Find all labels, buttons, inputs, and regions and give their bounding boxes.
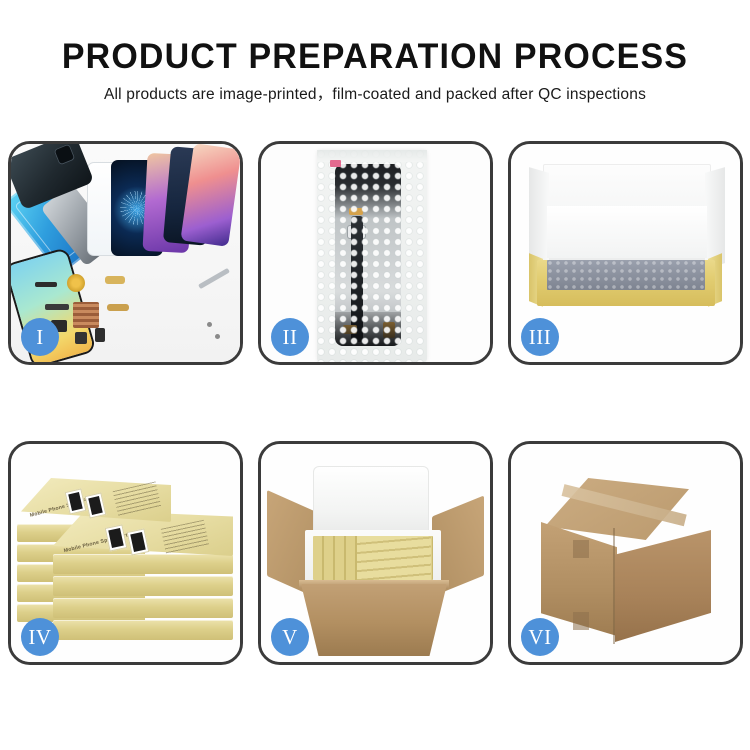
box-side-r2 <box>53 554 233 574</box>
box-side-r5 <box>53 620 233 640</box>
box-side-r4 <box>53 598 233 618</box>
box-side-r3 <box>53 576 233 596</box>
carton-tab-upper <box>573 540 589 558</box>
step-badge-3: III <box>521 318 559 356</box>
process-step-panel-1[interactable]: I <box>8 141 243 365</box>
page-subtitle: All products are image-printed，film-coat… <box>0 78 750 105</box>
flex-cable-part-2 <box>107 304 129 311</box>
step-badge-5: V <box>271 618 309 656</box>
process-step-panel-4[interactable]: Mobile Phone Spare Parts Mobile Phone Sp… <box>8 441 243 665</box>
speaker-bar-part <box>35 282 57 287</box>
step-badge-1: I <box>21 318 59 356</box>
connector-part-5 <box>75 332 87 344</box>
step-badge-2: II <box>271 318 309 356</box>
process-step-panel-6[interactable]: VI <box>508 441 743 665</box>
page-title: PRODUCT PREPARATION PROCESS <box>11 0 739 78</box>
carton-front-wall <box>301 584 447 656</box>
connector-part-6 <box>95 328 105 342</box>
carton-tab-lower <box>573 612 589 630</box>
process-step-panel-2[interactable]: II <box>258 141 493 365</box>
grey-bubble-padding <box>547 260 705 290</box>
step-badge-6: VI <box>521 618 559 656</box>
pink-qc-label <box>330 160 341 167</box>
chip-grid-part <box>73 302 99 328</box>
bubble-texture <box>317 150 427 362</box>
carton-right-face <box>615 530 711 642</box>
screw-part-1 <box>207 322 212 327</box>
yellow-boxes-row-2 <box>357 536 431 580</box>
process-step-panel-5[interactable]: V <box>258 441 493 665</box>
white-foam-sheet <box>547 206 707 258</box>
step-badge-4: IV <box>21 618 59 656</box>
flex-cable-part-1 <box>105 276 125 284</box>
copper-coil-part <box>67 274 85 292</box>
carton-corner-seam <box>613 528 615 644</box>
connector-part-3 <box>45 304 69 310</box>
process-step-panel-3[interactable]: III <box>508 141 743 365</box>
process-steps-grid: I II <box>8 141 742 679</box>
page-header: PRODUCT PREPARATION PROCESS All products… <box>0 0 750 105</box>
bubble-wrap-bag <box>317 150 427 362</box>
screw-part-2 <box>215 334 220 339</box>
